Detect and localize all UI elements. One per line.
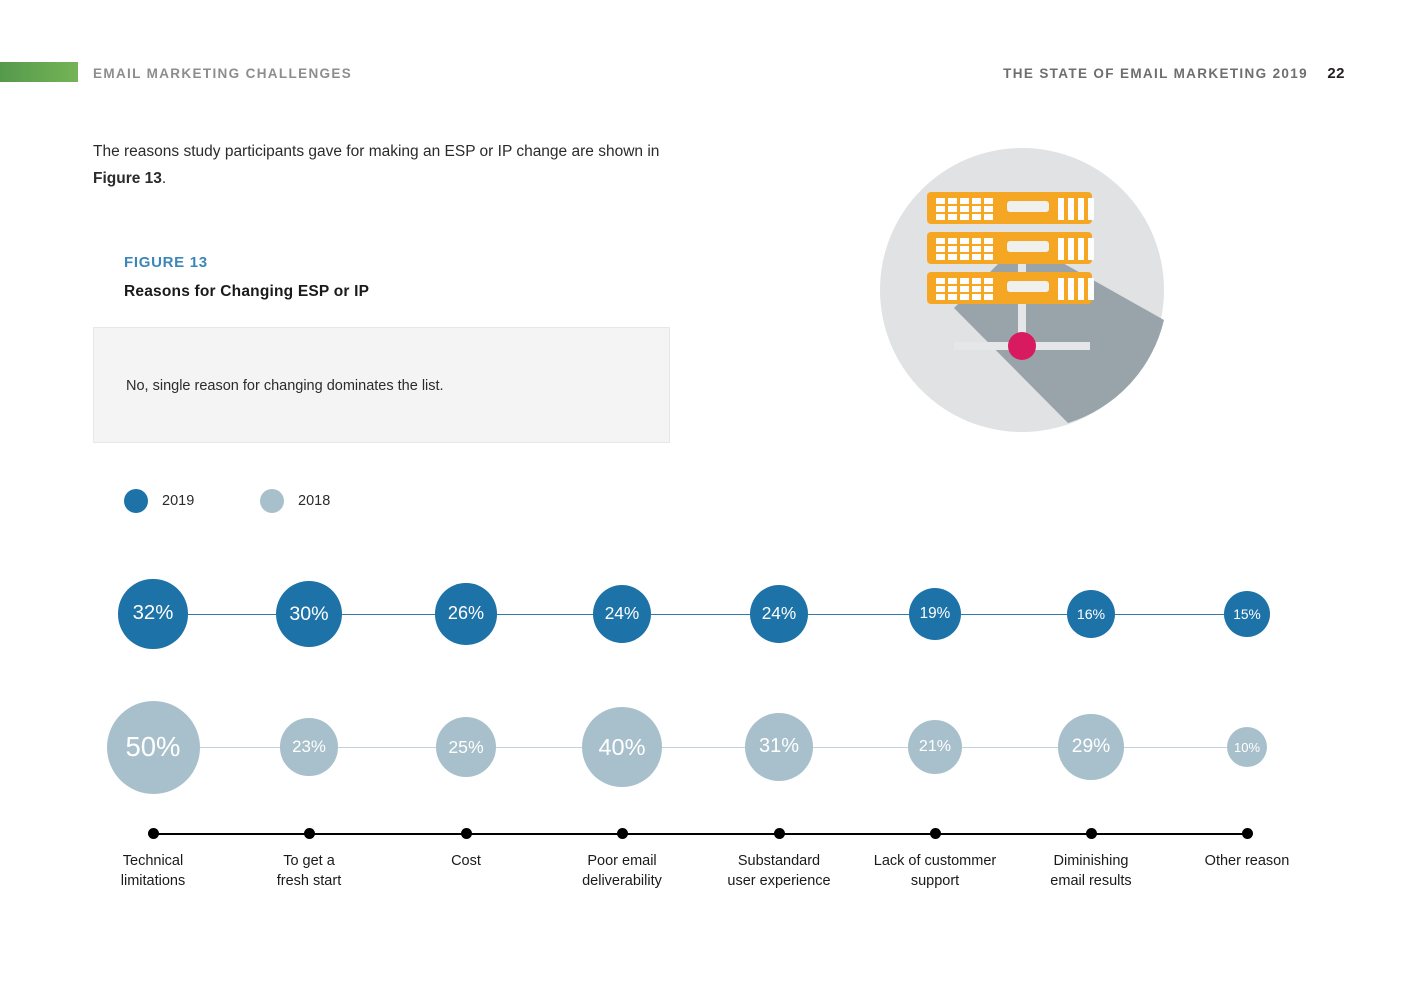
connector-line	[342, 614, 435, 615]
legend-item-2019[interactable]: 2019	[124, 489, 194, 513]
category-label-line: Cost	[376, 851, 556, 871]
legend-label-2018: 2018	[298, 493, 330, 509]
intro-line-2-prefix: shown in	[598, 143, 659, 160]
axis-tick-dot	[1086, 828, 1097, 839]
category-label-line: Poor email	[532, 851, 712, 871]
bubble-2019-6[interactable]: 16%	[1067, 590, 1115, 638]
bubble-2018-3[interactable]: 40%	[582, 707, 662, 787]
bubble-2019-5[interactable]: 19%	[909, 588, 961, 640]
intro-figure-ref: Figure 13	[93, 170, 162, 187]
bubble-2018-7[interactable]: 10%	[1227, 727, 1267, 767]
axis-tick-dot	[617, 828, 628, 839]
bubble-2018-1[interactable]: 23%	[280, 718, 337, 775]
category-label-line: Other reason	[1157, 851, 1337, 871]
connector-line	[338, 747, 436, 748]
connector-line	[496, 747, 582, 748]
header-section-title: EMAIL MARKETING CHALLENGES	[93, 66, 352, 81]
callout-text: No, single reason for changing dominates…	[126, 378, 444, 394]
category-label-line: To get a	[219, 851, 399, 871]
legend-swatch-2018	[260, 489, 284, 513]
category-label-4: Substandarduser experience	[689, 851, 869, 891]
axis-tick-dot	[461, 828, 472, 839]
bubble-2019-2[interactable]: 26%	[435, 583, 496, 644]
bubble-2018-5[interactable]: 21%	[908, 720, 963, 775]
connector-line	[1115, 614, 1224, 615]
category-label-5: Lack of custommersupport	[845, 851, 1025, 891]
connector-line	[662, 747, 745, 748]
legend-swatch-2019	[124, 489, 148, 513]
server-rack-illustration	[872, 140, 1172, 440]
figure-label: FIGURE 13	[124, 254, 208, 271]
server-rack-icon	[872, 140, 1172, 440]
bubble-2018-6[interactable]: 29%	[1058, 714, 1123, 779]
category-label-line: email results	[1001, 871, 1181, 891]
category-label-line: deliverability	[532, 871, 712, 891]
connector-line	[497, 614, 593, 615]
figure-title: Reasons for Changing ESP or IP	[124, 283, 369, 301]
category-label-line: Diminishing	[1001, 851, 1181, 871]
category-label-2: Cost	[376, 851, 556, 871]
bubble-2019-3[interactable]: 24%	[593, 585, 652, 644]
intro-paragraph: The reasons study participants gave for …	[93, 138, 683, 192]
legend-item-2018[interactable]: 2018	[260, 489, 330, 513]
category-label-7: Other reason	[1157, 851, 1337, 871]
connector-line	[651, 614, 749, 615]
bubble-2019-1[interactable]: 30%	[276, 581, 343, 648]
axis-tick-dot	[1242, 828, 1253, 839]
category-label-line: fresh start	[219, 871, 399, 891]
bubble-2019-0[interactable]: 32%	[118, 579, 187, 648]
bubble-2018-2[interactable]: 25%	[436, 717, 496, 777]
header-publication-title: THE STATE OF EMAIL MARKETING 2019	[1003, 66, 1308, 81]
intro-line-1: The reasons study participants gave for …	[93, 143, 594, 160]
legend-label-2019: 2019	[162, 493, 194, 509]
connector-line	[962, 747, 1058, 748]
axis-tick-dot	[774, 828, 785, 839]
bubble-2018-4[interactable]: 31%	[745, 713, 813, 781]
connector-line	[813, 747, 908, 748]
category-label-line: limitations	[63, 871, 243, 891]
connector-line	[200, 747, 281, 748]
category-label-1: To get afresh start	[219, 851, 399, 891]
connector-line	[188, 614, 276, 615]
category-label-0: Technicallimitations	[63, 851, 243, 891]
intro-line-2-suffix: .	[162, 170, 166, 187]
category-label-line: support	[845, 871, 1025, 891]
category-label-6: Diminishingemail results	[1001, 851, 1181, 891]
category-label-line: Lack of custommer	[845, 851, 1025, 871]
category-label-line: user experience	[689, 871, 869, 891]
axis-tick-dot	[148, 828, 159, 839]
bubble-2018-0[interactable]: 50%	[107, 701, 200, 794]
category-label-line: Substandard	[689, 851, 869, 871]
callout-box: No, single reason for changing dominates…	[93, 327, 670, 443]
axis-tick-dot	[930, 828, 941, 839]
bubble-2019-4[interactable]: 24%	[750, 585, 809, 644]
page-header: EMAIL MARKETING CHALLENGES THE STATE OF …	[0, 0, 1403, 100]
connector-line	[961, 614, 1067, 615]
page-number: 22	[1327, 65, 1345, 82]
category-label-3: Poor emaildeliverability	[532, 851, 712, 891]
accent-green-bar	[0, 62, 78, 82]
connector-line	[1124, 747, 1227, 748]
category-label-line: Technical	[63, 851, 243, 871]
axis-tick-dot	[304, 828, 315, 839]
category-axis-line	[153, 833, 1247, 835]
connector-line	[808, 614, 909, 615]
bubble-2019-7[interactable]: 15%	[1224, 591, 1271, 638]
